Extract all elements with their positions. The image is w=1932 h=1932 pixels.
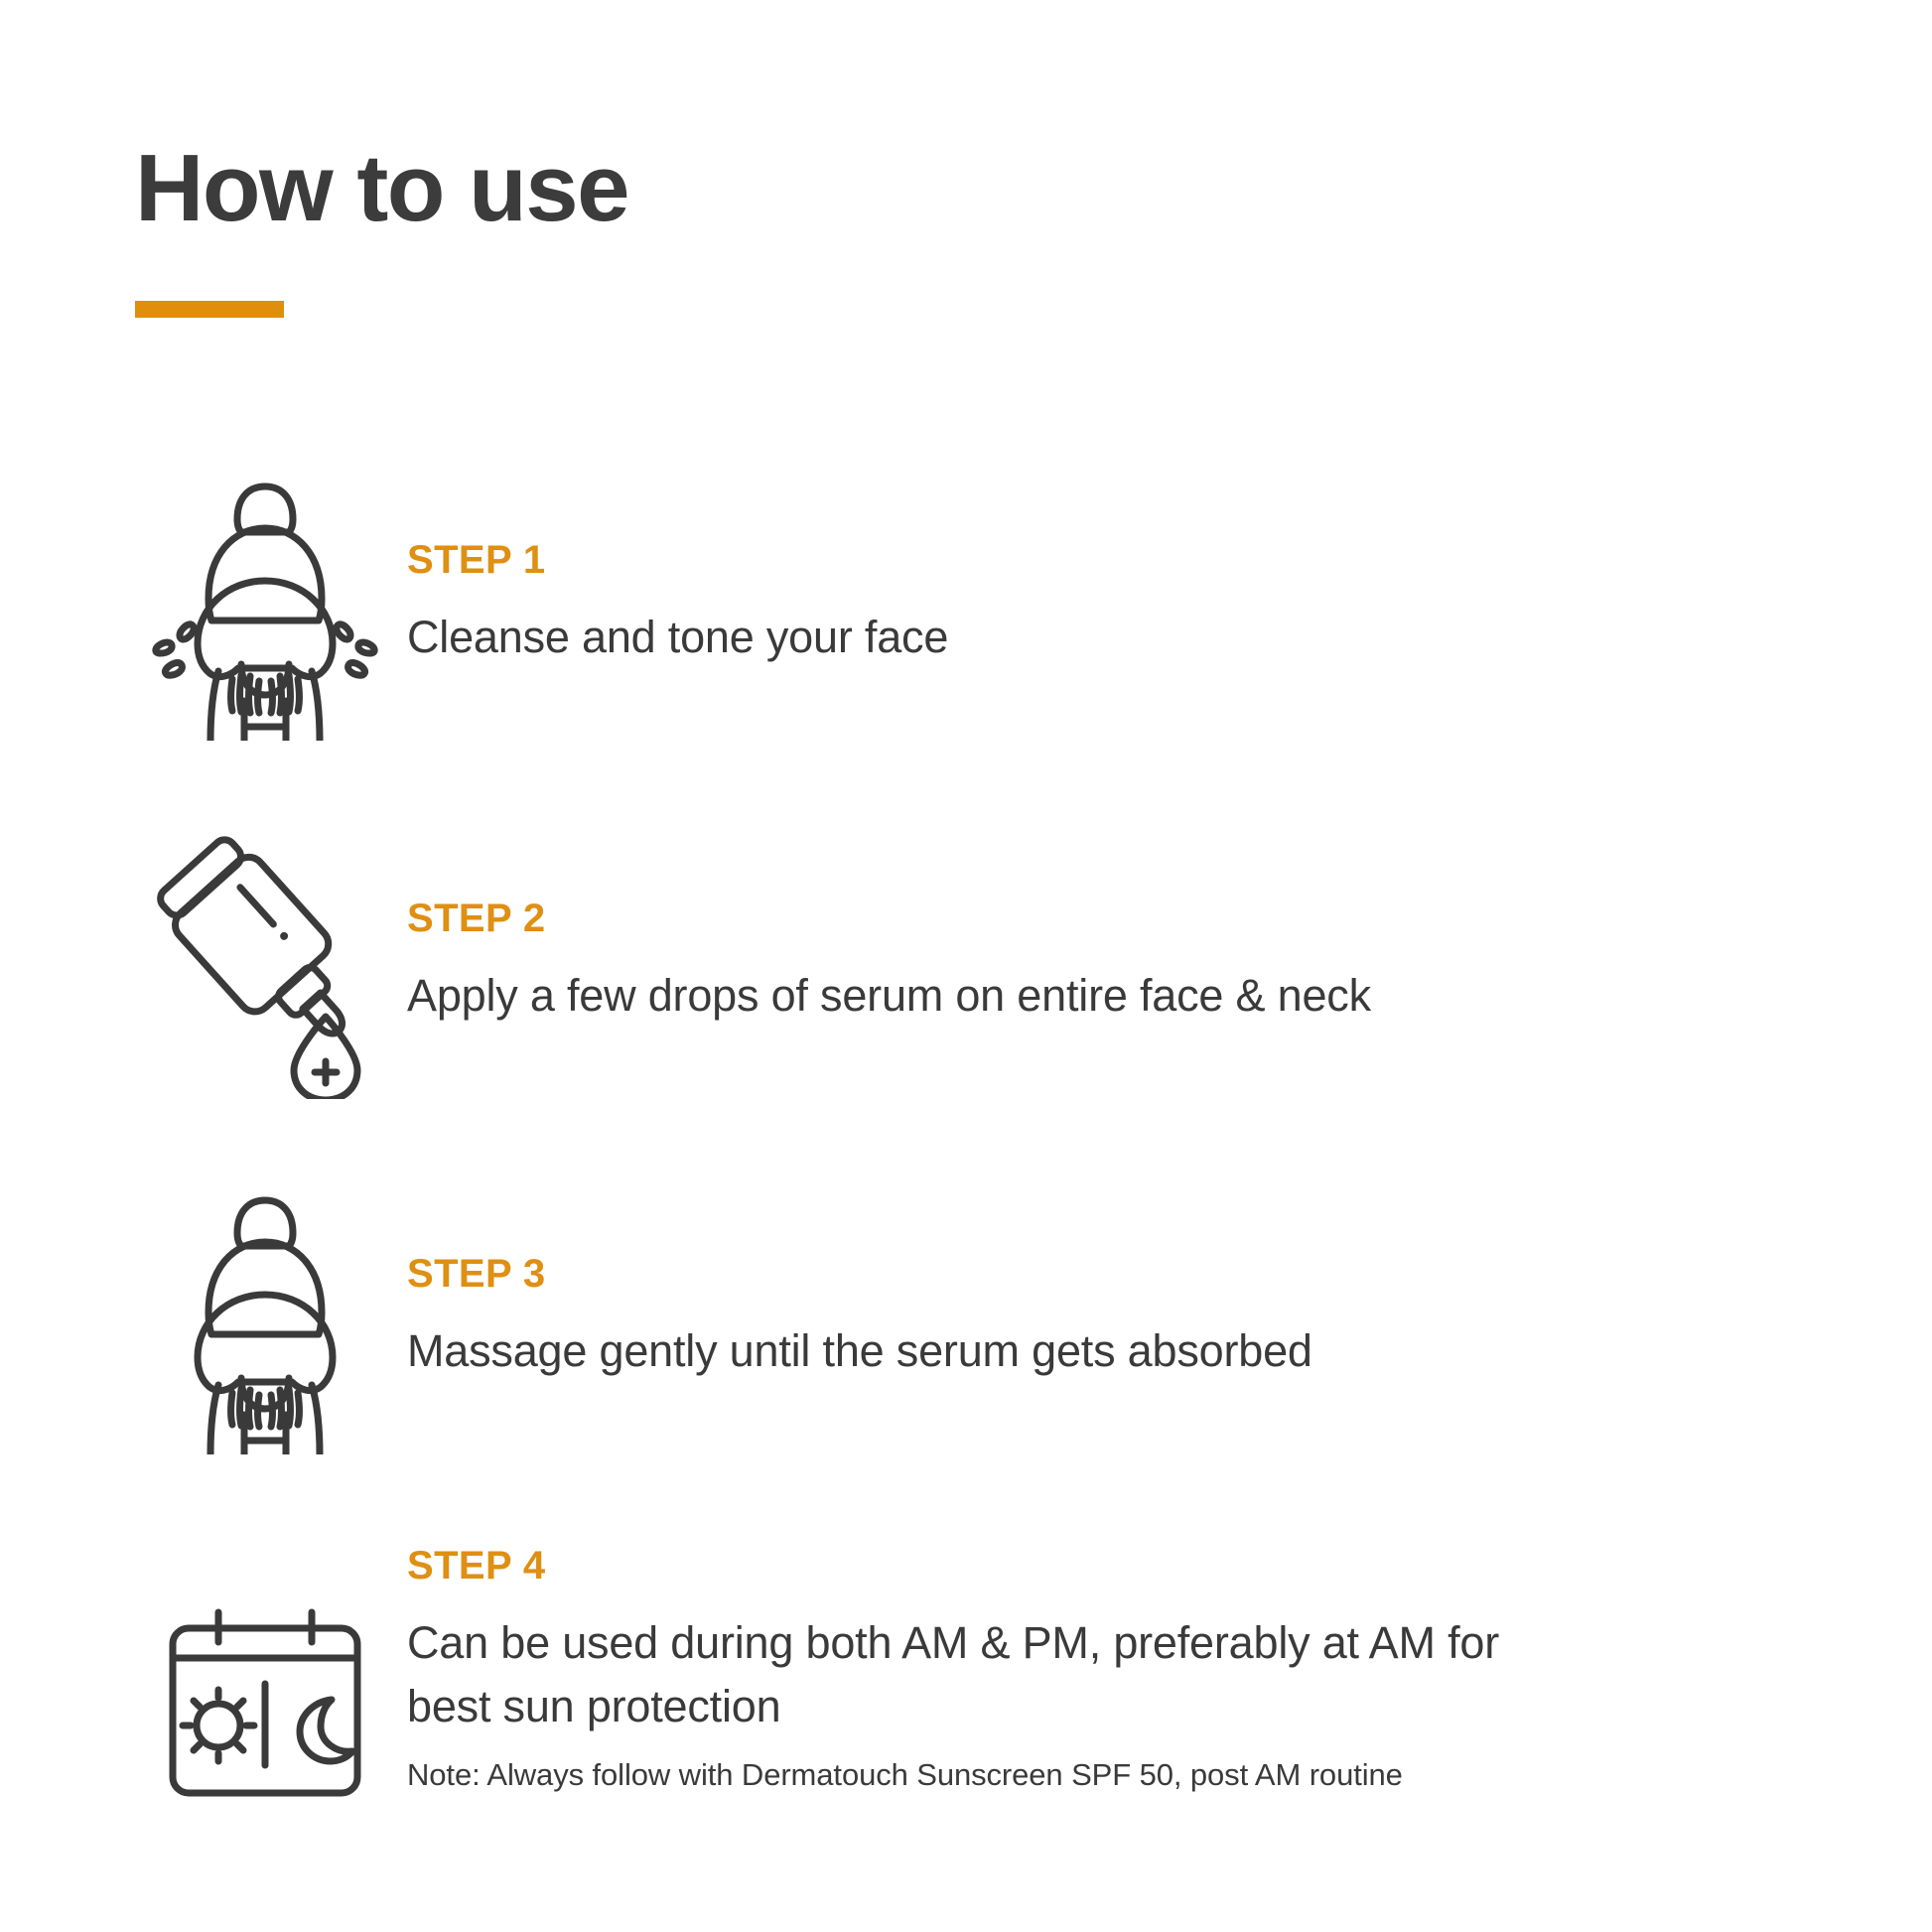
face-wash-icon	[135, 467, 395, 741]
step-description-3: Massage gently until the serum gets abso…	[407, 1319, 1932, 1383]
step-description-4: Can be used during both AM & PM, prefera…	[407, 1611, 1579, 1738]
serum-dropper-icon	[135, 825, 395, 1099]
step-label-2: STEP 2	[407, 897, 1932, 940]
step-item-2: STEP 2 Apply a few drops of serum on ent…	[0, 825, 1932, 1099]
step-label-4: STEP 4	[407, 1544, 1932, 1587]
step-label-1: STEP 1	[407, 538, 1932, 582]
step-text-4: STEP 4 Can be used during both AM & PM, …	[395, 1544, 1932, 1796]
header: How to use	[135, 139, 1525, 318]
step-item-3: STEP 3 Massage gently until the serum ge…	[0, 1180, 1932, 1454]
how-to-use-page: How to use	[0, 0, 1932, 1932]
step-text-1: STEP 1 Cleanse and tone your face	[395, 538, 1932, 669]
step-item-4: STEP 4 Can be used during both AM & PM, …	[0, 1526, 1932, 1814]
step-description-2: Apply a few drops of serum on entire fac…	[407, 964, 1932, 1028]
step-note-4: Note: Always follow with Dermatouch Suns…	[407, 1754, 1932, 1796]
step-label-3: STEP 3	[407, 1252, 1932, 1296]
step-item-1: STEP 1 Cleanse and tone your face	[0, 467, 1932, 741]
step-description-1: Cleanse and tone your face	[407, 606, 1932, 669]
step-text-3: STEP 3 Massage gently until the serum ge…	[395, 1252, 1932, 1383]
steps-list: STEP 1 Cleanse and tone your face	[0, 467, 1932, 1814]
title-underline-rule	[135, 301, 284, 318]
page-title: How to use	[135, 139, 1525, 239]
step-text-2: STEP 2 Apply a few drops of serum on ent…	[395, 897, 1932, 1028]
calendar-sun-moon-icon	[135, 1517, 395, 1823]
face-massage-icon	[135, 1180, 395, 1454]
